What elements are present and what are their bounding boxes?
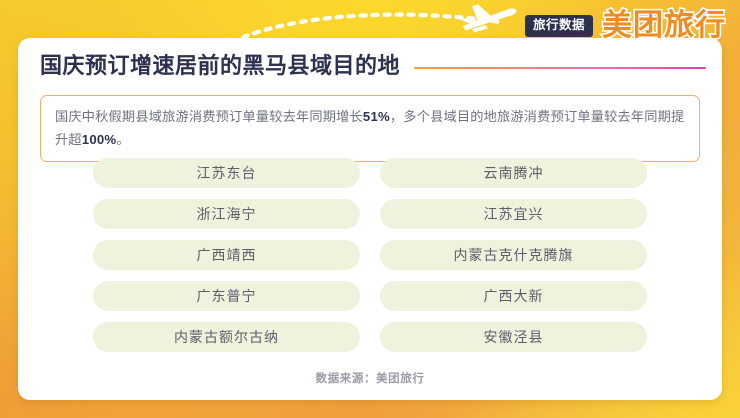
content-card: 国庆预订增速居前的黑马县域目的地 国庆中秋假期县域旅游消费预订单量较去年同期增长…: [18, 38, 722, 400]
header-brand-cluster: 旅行数据 美团旅行: [525, 11, 726, 41]
description-part-3: 。: [116, 132, 129, 147]
destination-pill[interactable]: 江苏东台: [93, 158, 360, 188]
description-highlight-2: 100%: [82, 132, 117, 147]
destination-pill[interactable]: 江苏宜兴: [380, 199, 647, 229]
title-divider-rule: [414, 67, 706, 69]
destination-pill[interactable]: 广西靖西: [93, 240, 360, 270]
destination-pill[interactable]: 云南腾冲: [380, 158, 647, 188]
data-source-footer: 数据来源：美团旅行: [18, 370, 722, 386]
brand-logo: 美团旅行: [602, 11, 726, 41]
destination-pill[interactable]: 广西大新: [380, 281, 647, 311]
description-box: 国庆中秋假期县域旅游消费预订单量较去年同期增长51%，多个县域目的地旅游消费预订…: [40, 95, 700, 162]
page-title: 国庆预订增速居前的黑马县域目的地: [40, 54, 400, 78]
description-part-1: 国庆中秋假期县域旅游消费预订单量较去年同期增长: [55, 109, 363, 124]
destination-pill[interactable]: 浙江海宁: [93, 199, 360, 229]
destination-pill[interactable]: 内蒙古克什克腾旗: [380, 240, 647, 270]
destination-pill-grid: 江苏东台 云南腾冲 浙江海宁 江苏宜兴 广西靖西 内蒙古克什克腾旗 广东普宁 广…: [93, 158, 647, 352]
destination-pill[interactable]: 广东普宁: [93, 281, 360, 311]
description-text: 国庆中秋假期县域旅游消费预订单量较去年同期增长51%，多个县域目的地旅游消费预订…: [55, 105, 685, 151]
destination-pill[interactable]: 内蒙古额尔古纳: [93, 322, 360, 352]
poster-root: 旅行数据 美团旅行 国庆预订增速居前的黑马县域目的地 国庆中秋假期县域旅游消费预…: [0, 0, 740, 418]
destination-pill[interactable]: 安徽泾县: [380, 322, 647, 352]
data-badge: 旅行数据: [525, 15, 593, 37]
description-highlight-1: 51%: [363, 109, 390, 124]
title-row: 国庆预订增速居前的黑马县域目的地: [40, 54, 706, 78]
